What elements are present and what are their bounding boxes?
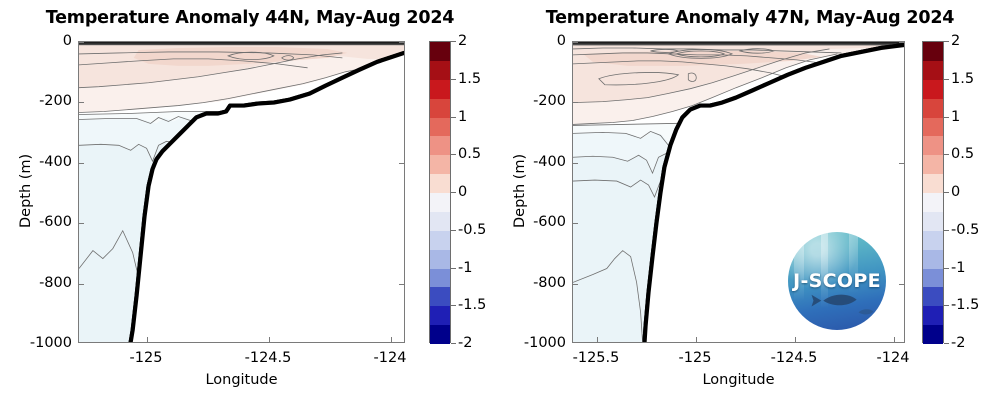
- cbar-seg-6: [430, 155, 450, 174]
- tick-x-124p5: [795, 337, 796, 342]
- cbar-tick-0: [944, 192, 949, 193]
- cbar-seg-10: [923, 231, 943, 250]
- panel-left-xlabel: Longitude: [78, 372, 405, 388]
- cbar-seg-2: [923, 80, 943, 99]
- cbar-tick-m0p5: [944, 230, 949, 231]
- cbar-label-m1: -1: [951, 260, 965, 276]
- cbar-seg-12: [430, 269, 450, 288]
- cbar-seg-14: [923, 306, 943, 325]
- cbar-seg-11: [430, 250, 450, 269]
- panel-left-title: Temperature Anomaly 44N, May-Aug 2024: [0, 8, 500, 28]
- cbar-label-m2: -2: [458, 335, 472, 351]
- tick-x-124: [391, 337, 392, 342]
- xtick-label-125p5: -125.5: [573, 350, 620, 366]
- xtick-label-125: -125: [679, 350, 712, 366]
- xtick-label-124p5: -124.5: [771, 350, 818, 366]
- cbar-tick-m1: [451, 268, 456, 269]
- cbar-seg-0: [430, 42, 450, 61]
- colorbar-right: [922, 41, 944, 343]
- cbar-seg-1: [923, 61, 943, 80]
- cbar-label-m0p5: -0.5: [951, 222, 979, 238]
- cbar-seg-10: [430, 231, 450, 250]
- cbar-label-1p5: 1.5: [458, 71, 481, 87]
- panel-left-contours: [79, 42, 404, 342]
- cbar-tick-1p5: [451, 79, 456, 80]
- colorbar-left: [429, 41, 451, 343]
- cbar-label-m0p5: -0.5: [458, 222, 486, 238]
- cbar-tick-0p5: [451, 154, 456, 155]
- cbar-label-2: 2: [458, 33, 467, 49]
- cbar-tick-m1p5: [451, 305, 456, 306]
- cbar-label-m1p5: -1.5: [951, 297, 979, 313]
- panel-right: Temperature Anomaly 47N, May-Aug 2024: [500, 0, 1000, 413]
- xtick-label-124: -124: [374, 350, 407, 366]
- ytick-label-1000: -1000: [8, 335, 72, 351]
- tick-x-125p5: [597, 337, 598, 342]
- cbar-seg-9: [430, 212, 450, 231]
- panel-left-plot-area: [78, 41, 405, 343]
- cbar-seg-8: [430, 193, 450, 212]
- cbar-seg-7: [923, 174, 943, 193]
- ytick-label-0: 0: [512, 33, 566, 49]
- cbar-seg-12: [923, 269, 943, 288]
- cbar-label-0: 0: [458, 184, 467, 200]
- cbar-seg-3: [923, 99, 943, 118]
- cbar-seg-5: [430, 136, 450, 155]
- cbar-tick-2: [451, 41, 456, 42]
- ytick-label-200: -200: [512, 93, 566, 109]
- panel-right-xlabel: Longitude: [572, 372, 905, 388]
- j-scope-logo: J-SCOPE: [788, 232, 886, 330]
- cbar-label-0: 0: [951, 184, 960, 200]
- cbar-seg-1: [430, 61, 450, 80]
- cbar-seg-4: [430, 118, 450, 137]
- tick-x-124: [894, 337, 895, 342]
- cbar-tick-m0p5: [451, 230, 456, 231]
- panel-left: Temperature Anomaly 44N, May-Aug 2024: [0, 0, 500, 413]
- cbar-seg-15: [923, 325, 943, 344]
- cbar-seg-9: [923, 212, 943, 231]
- cbar-tick-2: [944, 41, 949, 42]
- cbar-label-1: 1: [458, 109, 467, 125]
- panel-right-title: Temperature Anomaly 47N, May-Aug 2024: [500, 8, 1000, 28]
- cbar-seg-6: [923, 155, 943, 174]
- cbar-tick-1: [451, 117, 456, 118]
- tick-y-400: [79, 163, 84, 164]
- cbar-seg-5: [923, 136, 943, 155]
- cbar-seg-15: [430, 325, 450, 344]
- cbar-tick-1: [944, 117, 949, 118]
- cbar-label-0p5: 0.5: [458, 146, 481, 162]
- tick-y-200: [79, 102, 84, 103]
- cbar-seg-3: [430, 99, 450, 118]
- cbar-seg-7: [430, 174, 450, 193]
- cbar-tick-m1: [944, 268, 949, 269]
- tick-y-600: [79, 223, 84, 224]
- tick-y-right-800: [899, 284, 904, 285]
- cbar-label-m1p5: -1.5: [458, 297, 486, 313]
- cbar-label-0p5: 0.5: [951, 146, 974, 162]
- cbar-tick-0: [451, 192, 456, 193]
- cbar-tick-m1p5: [944, 305, 949, 306]
- cbar-seg-14: [430, 306, 450, 325]
- cbar-seg-13: [430, 287, 450, 306]
- tick-y-right-800: [399, 284, 404, 285]
- cbar-tick-m2: [451, 343, 456, 344]
- cbar-label-m1: -1: [458, 260, 472, 276]
- cbar-label-1p5: 1.5: [951, 71, 974, 87]
- cbar-seg-8: [923, 193, 943, 212]
- tick-y-800: [79, 284, 84, 285]
- cbar-label-m2: -2: [951, 335, 965, 351]
- cbar-seg-11: [923, 250, 943, 269]
- tick-y-0: [79, 42, 84, 43]
- cbar-seg-4: [923, 118, 943, 137]
- cbar-tick-0p5: [944, 154, 949, 155]
- cbar-seg-2: [430, 80, 450, 99]
- ytick-label-800: -800: [18, 275, 72, 291]
- tick-x-124p5: [269, 337, 270, 342]
- panel-right-ylabel: Depth (m): [512, 154, 528, 228]
- figure-root: Temperature Anomaly 44N, May-Aug 2024: [0, 0, 1000, 413]
- xtick-label-124: -124: [877, 350, 910, 366]
- cbar-seg-0: [923, 42, 943, 61]
- cbar-tick-1p5: [944, 79, 949, 80]
- xtick-label-124p5: -124.5: [245, 350, 292, 366]
- tick-y-0: [573, 42, 578, 43]
- ytick-label-200: -200: [18, 93, 72, 109]
- cbar-seg-13: [923, 287, 943, 306]
- ytick-label-0: 0: [18, 33, 72, 49]
- tick-y-right-400: [899, 163, 904, 164]
- tick-x-125: [696, 337, 697, 342]
- tick-y-right-0: [899, 42, 904, 43]
- tick-y-600: [573, 223, 578, 224]
- tick-y-800: [573, 284, 578, 285]
- cbar-label-1: 1: [951, 109, 960, 125]
- cbar-label-2: 2: [951, 33, 960, 49]
- panel-left-ylabel: Depth (m): [18, 154, 34, 228]
- ytick-label-1000: -1000: [502, 335, 566, 351]
- tick-y-400: [573, 163, 578, 164]
- ytick-label-800: -800: [512, 275, 566, 291]
- xtick-label-125: -125: [130, 350, 163, 366]
- tick-y-right-400: [399, 163, 404, 164]
- tick-y-right-0: [399, 42, 404, 43]
- tick-x-125: [147, 337, 148, 342]
- tick-y-200: [573, 102, 578, 103]
- logo-text: J-SCOPE: [788, 270, 886, 292]
- cbar-tick-m2: [944, 343, 949, 344]
